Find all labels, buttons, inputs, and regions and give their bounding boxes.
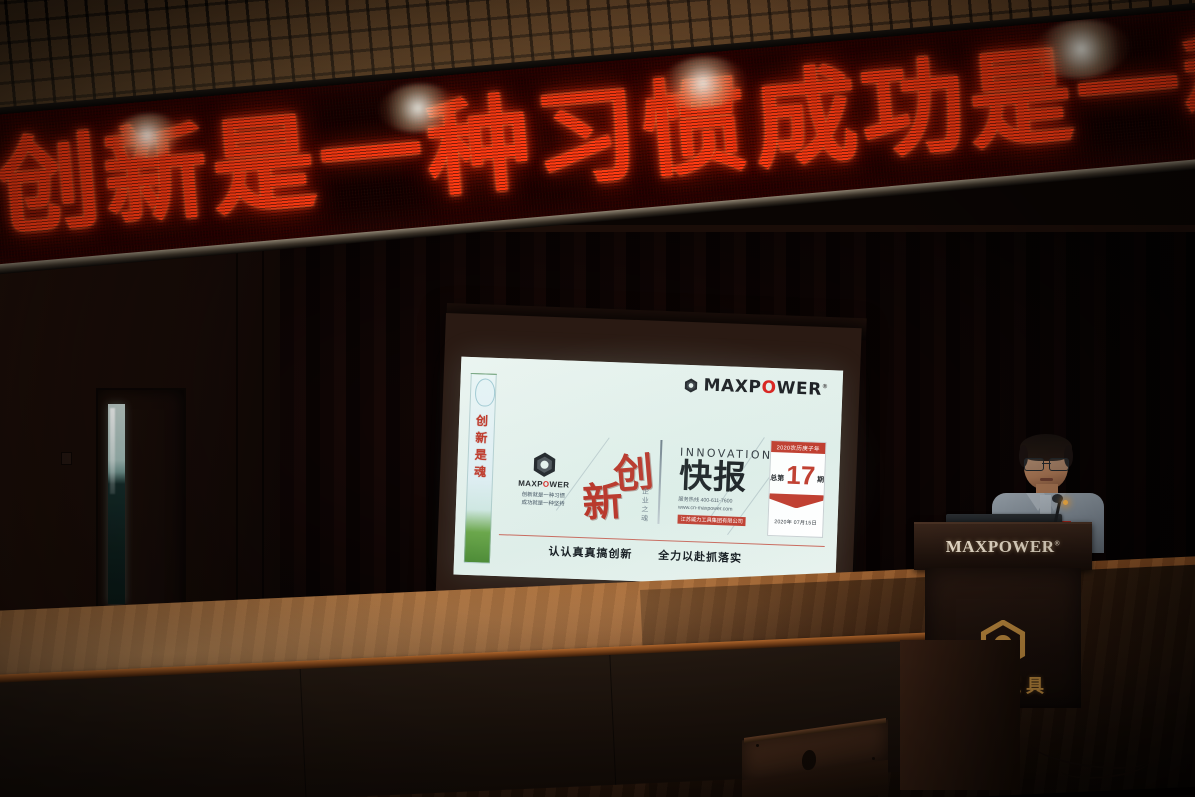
issue-number-box: 2020农历庚子年 总第 17 期 2020年 07月15日: [767, 440, 826, 538]
issue-date: 2020年 07月15日: [774, 519, 817, 528]
website-text: www.cn-maxpower.com: [678, 504, 733, 512]
company-name: 江苏威力工具集团有限公司: [677, 515, 746, 526]
slogan-gap: [637, 558, 653, 559]
tagline-line-2: 成功就是一种坚持: [521, 500, 564, 508]
calligraphy-side-note: 企业之魂: [638, 487, 649, 523]
issue-number: 17: [786, 464, 816, 488]
tagline-line-1: 创新就是一种习惯: [522, 492, 565, 500]
wall-switch[interactable]: [61, 452, 72, 465]
presenter-mouth: [1040, 478, 1053, 481]
microphone-icon: [1052, 494, 1063, 503]
door-glass-highlight: [110, 408, 115, 494]
slide-brand-wordmark: MAXPOWER®: [703, 375, 829, 400]
wall-seam: [262, 250, 264, 645]
contact-info: 服务热线 400-611-7600 www.cn-maxpower.com: [678, 495, 771, 515]
projection-screen: 创新是魂 MAXPOWER®: [453, 357, 843, 589]
conference-hall-photo: 创新是一种习惯 成功是一种坚持 创新是魂: [0, 0, 1195, 797]
monitor-screw: [872, 757, 875, 760]
podium-top-panel: MAXPOWER®: [914, 522, 1092, 570]
slide-left-banner-text: 创新是魂: [471, 414, 490, 483]
eyeglasses-icon: [1024, 458, 1069, 470]
masthead-title-block: INNOVATION 快报 服务热线 400-611-7600 www.cn-m…: [677, 446, 772, 528]
calligraphy-char-bottom: 新: [580, 469, 624, 530]
slide-brand-header: MAXPOWER®: [683, 375, 829, 400]
presentation-slide: 创新是魂 MAXPOWER®: [453, 357, 843, 589]
issue-swoosh-graphic: [769, 493, 823, 509]
masthead-logo-block: MAXPOWER 创新就是一种习惯 成功就是一种坚持: [510, 450, 578, 509]
slogan-left: 认认真真搞创新: [548, 545, 632, 561]
calligraphy-block: 创 新 企业之魂: [581, 439, 670, 526]
stage-equipment-box: [900, 640, 1020, 790]
masthead-wordmark: MAXPOWER: [518, 479, 570, 490]
issue-prefix-label: 总第: [770, 473, 784, 487]
hex-nut-icon: [531, 451, 558, 478]
microphone-indicator-light: [1063, 500, 1068, 505]
slogan-right: 全力以赴抓落实: [658, 549, 742, 565]
stage-side-door[interactable]: [96, 388, 186, 636]
title-chinese: 快报: [679, 459, 773, 497]
podium-brand-label: MAXPOWER®: [914, 537, 1092, 557]
calligraphy-divider: [657, 440, 662, 524]
wall-seam: [236, 244, 238, 644]
floor-monitor-speaker: [742, 730, 888, 797]
slide-left-banner: 创新是魂: [464, 373, 497, 564]
stage-front-seam: [609, 655, 616, 785]
stage-front-seam: [300, 669, 307, 797]
hotline-text: 服务热线 400-611-7600: [678, 496, 732, 504]
hex-nut-icon: [683, 377, 699, 393]
masthead-tagline: 创新就是一种习惯 成功就是一种坚持: [521, 491, 565, 509]
lightbulb-icon: [475, 378, 496, 407]
issue-suffix-label: 期: [817, 475, 824, 488]
issue-number-row: 总第 17 期: [770, 463, 825, 488]
lunar-year-banner: 2020农历庚子年: [771, 441, 825, 454]
monitor-screw: [756, 744, 759, 747]
